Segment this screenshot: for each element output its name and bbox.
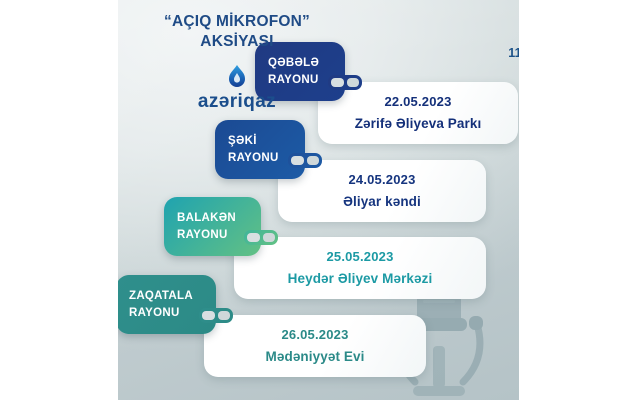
flame-icon	[226, 64, 248, 90]
event-place-2: Əliyar kəndi	[343, 195, 421, 210]
event-date-4: 26.05.2023	[281, 328, 348, 341]
region-tag-2-line1: ŞƏKİ	[228, 133, 305, 150]
headline-line-1: “AÇIQ MİKROFON”	[118, 12, 356, 32]
screenshot-canvas: “AÇIQ MİKROFON” AKSİYASI azəriqaz	[0, 0, 637, 400]
event-card-3: 25.05.2023 Heydər Əliyev Mərkəzi	[234, 237, 486, 299]
event-date-1: 22.05.2023	[384, 95, 451, 108]
event-place-3: Heydər Əliyev Mərkəzi	[288, 272, 433, 287]
connector-notch-2	[288, 153, 322, 168]
region-tag-3-line1: BALAKƏN	[177, 210, 261, 227]
event-place-4: Mədəniyyət Evi	[266, 350, 365, 365]
event-card-2: 24.05.2023 Əliyar kəndi	[278, 160, 486, 222]
event-place-1: Zərifə Əliyeva Parkı	[355, 117, 482, 132]
event-date-2: 24.05.2023	[348, 173, 415, 186]
brand-logo: azəriqaz	[118, 64, 356, 111]
headline-line-2: AKSİYASI	[118, 32, 356, 52]
poster-image: “AÇIQ MİKROFON” AKSİYASI azəriqaz	[118, 0, 519, 400]
schedule-time-label: 11:00-12:00	[478, 46, 519, 60]
region-tag-2: ŞƏKİ RAYONU	[215, 120, 305, 179]
page-title: “AÇIQ MİKROFON” AKSİYASI	[118, 12, 356, 53]
event-card-4: 26.05.2023 Mədəniyyət Evi	[204, 315, 426, 377]
connector-notch-4	[199, 308, 233, 323]
brand-name: azəriqaz	[118, 92, 356, 111]
region-tag-3: BALAKƏN RAYONU	[164, 197, 261, 256]
connector-notch-3	[244, 230, 278, 245]
region-tag-4: ZAQATALA RAYONU	[118, 275, 216, 334]
schedule-time-block: 11:00-12:00	[478, 8, 519, 60]
region-tag-4-line1: ZAQATALA	[129, 288, 216, 305]
event-date-3: 25.05.2023	[326, 250, 393, 263]
